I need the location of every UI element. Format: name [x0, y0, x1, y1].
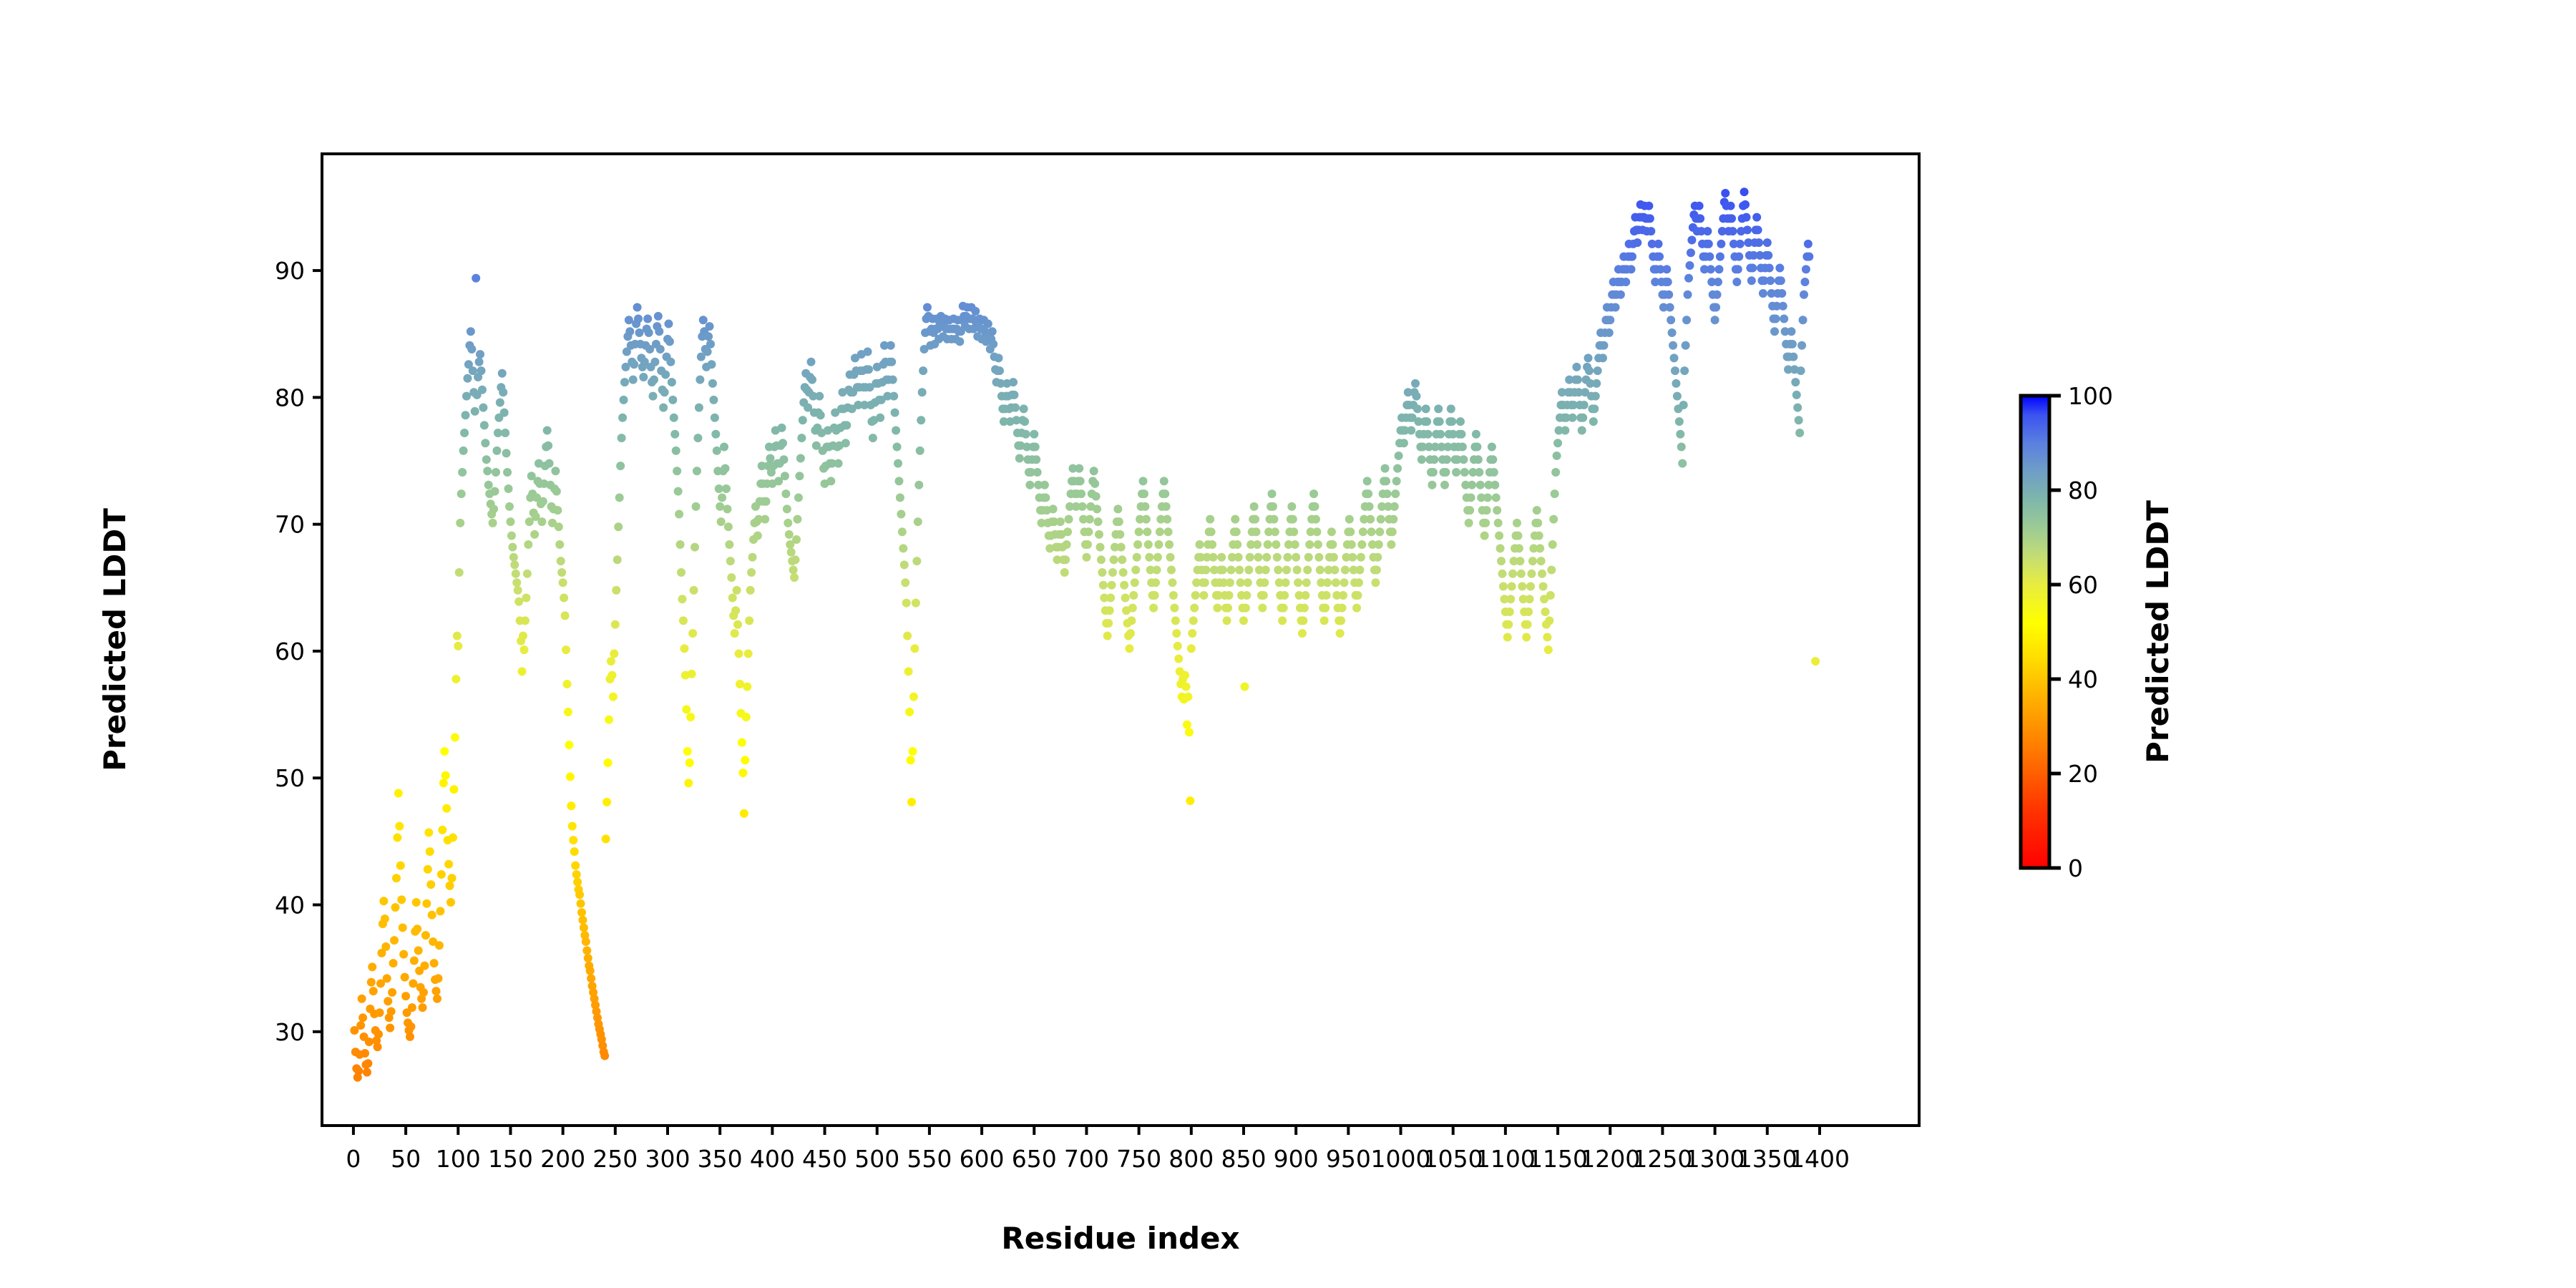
data-point — [918, 388, 927, 396]
plddt-scatter-figure: 0501001502002503003504004505005506006507… — [0, 0, 2576, 1288]
data-point — [354, 1067, 363, 1075]
data-point — [674, 487, 683, 496]
x-tick-label: 150 — [488, 1145, 533, 1173]
data-point — [409, 979, 417, 987]
data-point — [1804, 240, 1813, 248]
data-point — [1164, 527, 1173, 536]
data-point — [1742, 213, 1751, 222]
data-point — [364, 1059, 372, 1068]
data-point — [391, 903, 399, 912]
data-point — [609, 693, 618, 701]
data-point — [1106, 594, 1115, 602]
data-point — [1279, 604, 1288, 613]
x-tick-label: 900 — [1274, 1145, 1319, 1173]
data-point — [1184, 693, 1192, 701]
data-point — [573, 878, 582, 887]
data-point — [1382, 477, 1390, 485]
data-point — [543, 426, 552, 434]
data-point — [741, 756, 749, 764]
data-point — [408, 1003, 416, 1012]
data-point — [711, 414, 719, 422]
data-point — [1170, 604, 1179, 613]
data-point — [512, 578, 521, 587]
data-point — [908, 747, 917, 756]
data-point — [1375, 540, 1383, 549]
data-point — [1407, 426, 1415, 434]
data-point — [1348, 553, 1357, 562]
data-point — [1679, 401, 1688, 409]
x-tick-label: 950 — [1326, 1145, 1371, 1173]
data-point — [1695, 202, 1704, 210]
data-point — [584, 954, 592, 962]
data-point — [406, 1023, 415, 1031]
data-point — [680, 644, 688, 653]
data-point — [1728, 227, 1737, 235]
data-point — [358, 1013, 367, 1022]
data-point — [1135, 527, 1143, 536]
data-point — [1235, 565, 1244, 574]
x-tick-label: 100 — [436, 1145, 481, 1173]
data-point — [1224, 591, 1233, 600]
data-point — [1347, 540, 1356, 549]
data-point — [1160, 477, 1169, 485]
data-point — [1314, 553, 1323, 562]
data-point — [746, 586, 755, 595]
data-point — [537, 517, 546, 526]
data-point — [1280, 591, 1289, 600]
data-point — [1584, 353, 1593, 362]
data-point — [1476, 481, 1485, 489]
data-point — [1274, 565, 1282, 574]
data-point — [1095, 530, 1103, 539]
data-point — [1579, 414, 1587, 422]
data-point — [1389, 515, 1397, 524]
data-point — [988, 327, 997, 336]
data-point — [1561, 426, 1569, 434]
data-point — [1740, 187, 1749, 196]
data-point — [1800, 278, 1809, 286]
data-point — [781, 489, 790, 498]
data-point — [1467, 493, 1475, 502]
data-point — [1802, 265, 1810, 273]
data-point — [1365, 502, 1374, 511]
data-point — [491, 487, 499, 496]
data-point — [1434, 404, 1443, 413]
data-point — [1341, 565, 1350, 574]
data-point — [462, 392, 471, 401]
data-point — [453, 632, 462, 640]
data-point — [1605, 328, 1614, 337]
data-point — [414, 946, 423, 955]
data-point — [551, 467, 560, 475]
data-point — [1338, 604, 1347, 613]
data-point — [778, 424, 786, 432]
data-point — [1497, 557, 1506, 565]
data-point — [1140, 489, 1148, 498]
data-point — [458, 468, 467, 477]
data-point — [876, 414, 884, 422]
data-point — [1219, 565, 1227, 574]
data-point — [1063, 527, 1072, 536]
data-point — [460, 429, 469, 437]
data-point — [500, 409, 509, 417]
data-point — [572, 870, 581, 879]
data-point — [390, 936, 399, 945]
data-point — [1390, 502, 1399, 511]
data-point — [1524, 608, 1533, 616]
data-point — [709, 396, 718, 404]
data-point — [1503, 633, 1512, 641]
data-point — [1548, 540, 1557, 549]
data-point — [1465, 506, 1474, 514]
data-point — [492, 468, 500, 477]
data-point — [1022, 430, 1030, 439]
data-point — [796, 454, 805, 462]
data-point — [1259, 591, 1268, 600]
data-point — [449, 834, 457, 842]
data-point — [731, 629, 739, 638]
data-point — [612, 586, 620, 595]
data-point — [795, 472, 804, 480]
data-point — [725, 540, 733, 549]
data-point — [618, 414, 627, 422]
x-tick-label: 200 — [540, 1145, 585, 1173]
data-point — [1667, 316, 1675, 324]
data-point — [1777, 289, 1786, 298]
data-point — [1644, 202, 1653, 210]
data-point — [1599, 341, 1608, 350]
data-point — [1149, 604, 1158, 613]
data-point — [1488, 443, 1496, 452]
data-point — [625, 327, 634, 336]
y-tick-label: 30 — [275, 1018, 305, 1046]
data-point — [1108, 581, 1116, 590]
data-point — [1712, 303, 1720, 312]
data-point — [995, 366, 1004, 375]
colorbar-tick-label: 0 — [2068, 854, 2083, 882]
data-point — [479, 404, 487, 412]
data-point — [1063, 540, 1071, 549]
data-point — [1646, 214, 1654, 223]
data-point — [1518, 582, 1526, 591]
data-point — [1316, 565, 1324, 574]
data-point — [1125, 644, 1133, 653]
colorbar-label: Predicted LDDT — [2140, 500, 2175, 763]
data-point — [1174, 655, 1183, 663]
data-point — [1246, 553, 1254, 562]
data-point — [747, 568, 756, 577]
data-point — [1303, 565, 1312, 574]
data-point — [1352, 604, 1361, 613]
data-point — [419, 988, 428, 997]
data-point — [600, 1051, 609, 1060]
data-point — [369, 987, 378, 995]
data-point — [1171, 616, 1180, 625]
data-point — [1165, 540, 1174, 549]
data-point — [1468, 481, 1476, 489]
data-point — [1553, 452, 1561, 460]
data-point — [456, 519, 464, 527]
data-point — [361, 1049, 369, 1058]
x-tick-label: 400 — [750, 1145, 795, 1173]
data-point — [1207, 527, 1216, 536]
data-point — [1646, 227, 1655, 235]
data-point — [1472, 430, 1480, 439]
data-point — [544, 441, 552, 450]
data-point — [1189, 616, 1198, 625]
data-point — [381, 914, 389, 923]
data-point — [1373, 553, 1382, 562]
data-point — [1526, 582, 1535, 591]
data-point — [611, 620, 620, 629]
data-point — [615, 493, 624, 502]
data-point — [1375, 527, 1384, 536]
data-point — [1271, 527, 1279, 536]
data-point — [1289, 515, 1297, 524]
data-point — [389, 959, 398, 967]
data-point — [1357, 553, 1365, 562]
data-point — [731, 606, 740, 615]
data-point — [1188, 629, 1196, 638]
data-point — [562, 645, 570, 654]
data-point — [720, 443, 728, 452]
data-point — [1752, 213, 1761, 222]
data-point — [1498, 570, 1506, 578]
data-point — [1568, 414, 1577, 422]
data-point — [454, 642, 462, 650]
data-point — [1711, 316, 1719, 324]
data-point — [670, 414, 678, 422]
data-point — [785, 530, 794, 539]
data-point — [907, 756, 915, 764]
data-point — [514, 597, 523, 606]
data-point — [916, 447, 924, 455]
data-point — [512, 570, 520, 578]
data-point — [498, 369, 507, 378]
colorbar-tick-label: 100 — [2068, 382, 2113, 410]
data-point — [1589, 417, 1598, 426]
data-point — [1391, 489, 1400, 498]
data-point — [898, 527, 907, 536]
data-point — [1490, 468, 1498, 477]
data-point — [1025, 481, 1034, 489]
data-point — [1236, 578, 1245, 587]
data-point — [1224, 604, 1232, 613]
data-point — [1094, 517, 1103, 526]
data-point — [907, 798, 916, 806]
data-point — [442, 804, 451, 813]
data-point — [639, 373, 648, 381]
data-point — [1792, 391, 1801, 399]
data-point — [561, 611, 570, 620]
data-point — [1805, 253, 1813, 261]
data-point — [365, 1038, 374, 1046]
x-tick-label: 800 — [1169, 1145, 1214, 1173]
data-point — [1727, 202, 1735, 210]
data-point — [521, 616, 530, 625]
y-tick-label: 60 — [275, 638, 305, 665]
data-point — [562, 680, 571, 688]
data-point — [406, 1033, 414, 1041]
data-point — [1747, 276, 1756, 285]
data-point — [1539, 582, 1548, 591]
x-tick-label: 850 — [1221, 1145, 1266, 1173]
data-point — [1793, 404, 1802, 412]
x-tick-label: 0 — [346, 1145, 361, 1173]
data-point — [1239, 616, 1248, 625]
data-point — [1040, 481, 1049, 489]
data-point — [1457, 430, 1465, 439]
data-point — [478, 386, 487, 394]
data-point — [394, 789, 403, 798]
data-point — [892, 426, 900, 434]
data-point — [564, 708, 572, 716]
data-point — [374, 1030, 383, 1038]
data-point — [482, 455, 491, 464]
data-point — [779, 439, 787, 447]
data-point — [1103, 632, 1112, 640]
data-point — [1169, 591, 1178, 600]
data-point — [688, 670, 696, 678]
data-point — [1323, 578, 1332, 587]
data-point — [1685, 261, 1694, 270]
x-tick-label: 50 — [391, 1145, 421, 1173]
data-point — [1314, 540, 1322, 549]
data-point — [744, 650, 753, 658]
x-tick-label: 1150 — [1528, 1145, 1588, 1173]
data-point — [1156, 527, 1164, 536]
data-point — [1606, 316, 1614, 324]
data-point — [1083, 540, 1092, 549]
data-point — [462, 411, 470, 419]
data-point — [1443, 455, 1451, 464]
data-point — [1126, 629, 1135, 638]
data-point — [1547, 565, 1556, 574]
data-point — [613, 555, 622, 564]
data-point — [690, 586, 698, 595]
data-point — [807, 358, 816, 366]
data-point — [740, 809, 748, 818]
data-point — [745, 616, 753, 625]
data-point — [1301, 591, 1309, 600]
data-point — [914, 481, 923, 489]
data-point — [1413, 404, 1422, 413]
data-point — [1144, 540, 1153, 549]
data-point — [1129, 591, 1138, 600]
data-point — [1262, 553, 1271, 562]
data-point — [608, 671, 616, 680]
data-point — [524, 540, 532, 549]
data-point — [842, 421, 851, 429]
data-point — [1590, 404, 1599, 413]
data-point — [736, 680, 744, 688]
data-point — [1388, 527, 1397, 536]
data-point — [1678, 459, 1687, 468]
data-point — [1304, 553, 1313, 562]
data-point — [1209, 553, 1218, 562]
data-point — [1115, 517, 1123, 526]
data-point — [424, 865, 432, 874]
data-point — [1278, 616, 1287, 625]
data-point — [1355, 578, 1363, 587]
data-point — [793, 515, 801, 524]
data-point — [1337, 616, 1345, 625]
data-point — [1460, 468, 1469, 477]
data-point — [715, 484, 723, 493]
data-point — [610, 650, 618, 658]
data-point — [1191, 591, 1200, 600]
data-point — [1381, 464, 1390, 473]
data-point — [841, 439, 850, 447]
data-point — [1504, 620, 1513, 629]
data-point — [1269, 515, 1278, 524]
data-point — [1787, 327, 1795, 336]
data-point — [629, 376, 638, 384]
data-point — [1654, 240, 1663, 248]
data-point — [1748, 264, 1757, 273]
data-point — [1811, 657, 1820, 665]
data-point — [1273, 553, 1282, 562]
data-point — [1721, 189, 1729, 197]
data-point — [1714, 278, 1722, 286]
data-point — [1499, 582, 1508, 591]
data-point — [1340, 578, 1348, 587]
data-point — [1704, 240, 1713, 248]
y-tick-label: 80 — [275, 384, 305, 411]
data-point — [477, 366, 485, 375]
data-point — [1765, 264, 1774, 273]
data-point — [781, 472, 789, 480]
data-point — [1113, 504, 1122, 513]
data-point — [718, 493, 726, 502]
data-point — [1108, 568, 1117, 577]
data-point — [1010, 391, 1018, 399]
data-point — [1327, 527, 1336, 536]
data-point — [713, 447, 721, 455]
data-point — [676, 540, 685, 549]
data-point — [1741, 200, 1750, 209]
data-point — [693, 467, 701, 475]
data-point — [794, 493, 803, 502]
data-point — [413, 924, 421, 933]
data-point — [891, 409, 899, 417]
data-point — [555, 522, 563, 531]
data-point — [367, 978, 376, 987]
data-point — [1196, 540, 1204, 549]
data-point — [1151, 578, 1160, 587]
data-point — [1400, 439, 1408, 447]
data-point — [723, 504, 731, 513]
data-point — [688, 629, 697, 638]
data-point — [1244, 565, 1253, 574]
data-point — [1099, 581, 1108, 590]
data-point — [1736, 240, 1745, 248]
data-point — [1328, 540, 1337, 549]
data-point — [1201, 578, 1209, 587]
data-point — [897, 509, 905, 518]
data-point — [1244, 578, 1252, 587]
data-point — [518, 667, 527, 675]
data-point — [1311, 502, 1319, 511]
data-point — [1682, 341, 1690, 350]
data-point — [1666, 303, 1674, 312]
data-point — [1252, 527, 1261, 536]
data-point — [410, 957, 419, 965]
data-point — [1330, 553, 1338, 562]
data-point — [1672, 379, 1680, 388]
data-point — [733, 620, 742, 629]
data-point — [901, 578, 909, 587]
